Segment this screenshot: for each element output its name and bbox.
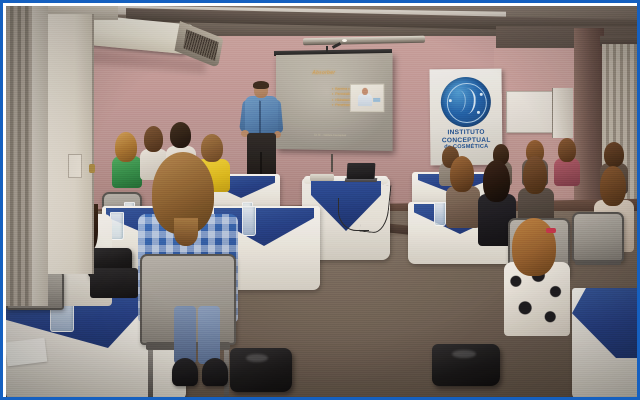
projector-device: [310, 174, 334, 181]
slide-footer: Dr. M. - Instituto Conceptual: [314, 134, 346, 137]
attendee-hair: [523, 156, 547, 194]
projection-screen: Absorber Barrera cutánea Permeabilidad d…: [276, 53, 393, 151]
attendee-leg: [174, 306, 196, 364]
drinking-glass: [242, 206, 256, 236]
vertical-blinds-left: [6, 6, 32, 306]
shoe: [172, 358, 198, 386]
photo-frame: Absorber Barrera cutánea Permeabilidad d…: [0, 0, 640, 400]
attendee-floral-top: [504, 218, 570, 336]
door-plate: [68, 154, 82, 178]
bag-highlight: [452, 350, 476, 358]
presenter-figure: [242, 82, 282, 182]
handbag: [230, 348, 292, 392]
attendee-hair: [558, 138, 576, 162]
chair: [572, 212, 624, 292]
table: [572, 288, 640, 400]
slide-image-body: [358, 94, 372, 106]
seminar-room-photo: Absorber Barrera cutánea Permeabilidad d…: [6, 6, 640, 400]
logo-dot: [477, 111, 480, 114]
laptop-screen: [347, 163, 376, 179]
presenter-shirt: [245, 96, 278, 135]
drinking-glass: [434, 202, 446, 226]
bag-highlight: [246, 354, 268, 362]
attendee-hair: [115, 132, 137, 162]
left-door-jamb: [30, 6, 48, 306]
institute-logo-icon: [441, 77, 492, 128]
slide-image-head: [362, 88, 368, 95]
slide-title: Absorber: [312, 70, 335, 76]
door-knob-icon: [89, 164, 95, 173]
chair-back: [572, 212, 624, 262]
screen-hook: [326, 46, 328, 54]
attendee-leg: [198, 306, 220, 364]
attendee-far-right: [554, 138, 580, 186]
presenter-hair: [253, 81, 269, 89]
attendee-torso: [554, 158, 580, 186]
attendee-hair: [170, 122, 191, 148]
dark-garment: [90, 268, 138, 298]
attendee-hair: [450, 156, 474, 192]
attendee-hair: [600, 166, 626, 206]
attendee-ponytail: [174, 218, 198, 246]
drinking-glass: [110, 212, 124, 240]
left-door: [48, 14, 94, 274]
attendee-hair: [144, 126, 163, 152]
chair-leg: [148, 350, 153, 400]
chair-frame: [575, 260, 621, 265]
presenter-shirt-placket: [259, 98, 261, 134]
right-door-slab: [552, 88, 573, 138]
logo-dot: [449, 99, 452, 102]
handbag: [432, 344, 500, 386]
attendee-hair: [604, 142, 624, 167]
whiteboard: [506, 91, 556, 133]
logo-dot: [480, 93, 483, 96]
shoe: [202, 358, 228, 386]
handout-paper: [6, 338, 47, 367]
attendee-torso: [446, 186, 480, 228]
attendee-hair: [512, 218, 556, 276]
hair-clip: [546, 228, 556, 233]
light-glint: [342, 39, 347, 42]
slide-image: [350, 84, 384, 113]
slide-image-tag: [373, 98, 380, 102]
attendee-hair: [483, 160, 510, 202]
attendee-brown-hair-right: [446, 156, 480, 228]
